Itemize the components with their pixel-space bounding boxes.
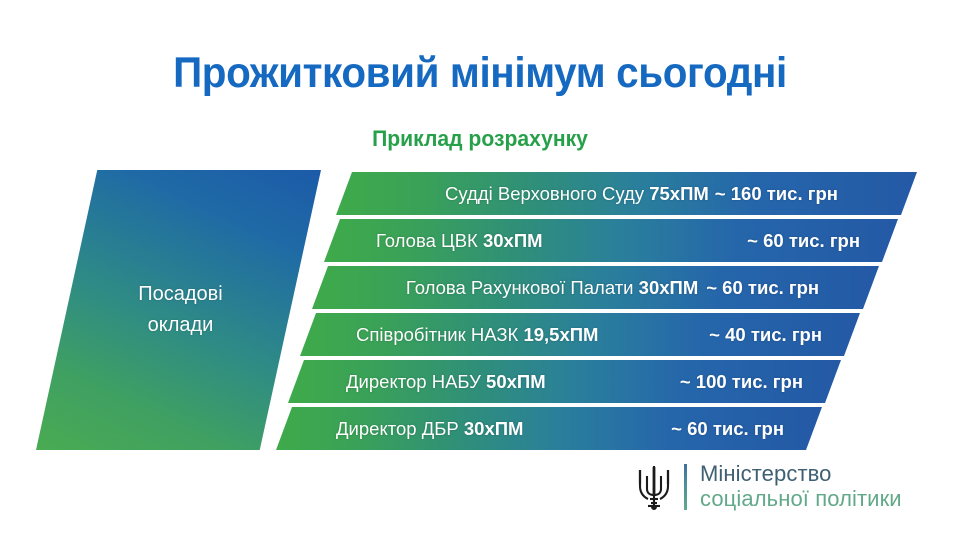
logo-line-ministry: Міністерство xyxy=(700,462,902,487)
bar-row[interactable]: Судді Верховного Суду 75хПМ~ 160 тис. гр… xyxy=(336,172,917,215)
logo-text: Міністерство соціальної політики xyxy=(700,462,902,511)
bar-role-label: Директор НАБУ xyxy=(346,371,481,393)
page-title: Прожитковий мінімум сьогодні xyxy=(29,50,931,96)
bar-role-label: Директор ДБР xyxy=(336,418,459,440)
bar-multiplier-value: 19,5хПМ xyxy=(518,324,598,346)
bar-role-label: Судді Верховного Суду xyxy=(445,183,644,205)
salary-block: Посадові оклади xyxy=(36,170,321,450)
bar-amount-value: ~ 60 тис. грн xyxy=(706,277,819,299)
bar-amount-value: ~ 160 тис. грн xyxy=(715,183,838,205)
page-subtitle: Приклад розрахунку xyxy=(19,126,941,152)
bar-row-text: Голова Рахункової Палати 30хПМ~ 60 тис. … xyxy=(312,277,879,299)
bar-row[interactable]: Директор ДБР 30хПМ~ 60 тис. грн xyxy=(276,407,822,450)
logo-line-department: соціальної політики xyxy=(700,487,902,512)
bar-multiplier-value: 30хПМ xyxy=(634,277,699,299)
bar-multiplier-value: 50хПМ xyxy=(481,371,546,393)
bar-row-text: Співробітник НАЗК 19,5хПМ~ 40 тис. грн xyxy=(300,324,860,346)
bar-amount-value: ~ 60 тис. грн xyxy=(671,418,784,440)
bar-row-text: Голова ЦВК 30хПМ~ 60 тис. грн xyxy=(324,230,898,252)
bar-row-text: Судді Верховного Суду 75хПМ~ 160 тис. гр… xyxy=(336,183,917,205)
bar-amount-value: ~ 60 тис. грн xyxy=(747,230,860,252)
bar-row[interactable]: Голова ЦВК 30хПМ~ 60 тис. грн xyxy=(324,219,898,262)
bar-row-text: Директор ДБР 30хПМ~ 60 тис. грн xyxy=(276,418,822,440)
bar-role-label: Співробітник НАЗК xyxy=(356,324,518,346)
bar-row[interactable]: Голова Рахункової Палати 30хПМ~ 60 тис. … xyxy=(312,266,879,309)
bar-multiplier-value: 30хПМ xyxy=(478,230,543,252)
logo-divider xyxy=(684,464,687,510)
bar-row-text: Директор НАБУ 50хПМ~ 100 тис. грн xyxy=(288,371,841,393)
bar-role-label: Голова Рахункової Палати xyxy=(406,277,634,299)
trident-icon xyxy=(634,462,674,512)
bar-row[interactable]: Співробітник НАЗК 19,5хПМ~ 40 тис. грн xyxy=(300,313,860,356)
slide-canvas: Прожитковий мінімум сьогодні Приклад роз… xyxy=(0,0,960,538)
bar-amount-value: ~ 100 тис. грн xyxy=(680,371,803,393)
ministry-logo: Міністерство соціальної політики xyxy=(634,458,902,516)
bar-multiplier-value: 75хПМ xyxy=(644,183,709,205)
bar-row[interactable]: Директор НАБУ 50хПМ~ 100 тис. грн xyxy=(288,360,841,403)
bar-role-label: Голова ЦВК xyxy=(376,230,478,252)
salary-block-label: Посадові оклади xyxy=(134,279,222,341)
bar-multiplier-value: 30хПМ xyxy=(459,418,524,440)
bar-amount-value: ~ 40 тис. грн xyxy=(709,324,822,346)
